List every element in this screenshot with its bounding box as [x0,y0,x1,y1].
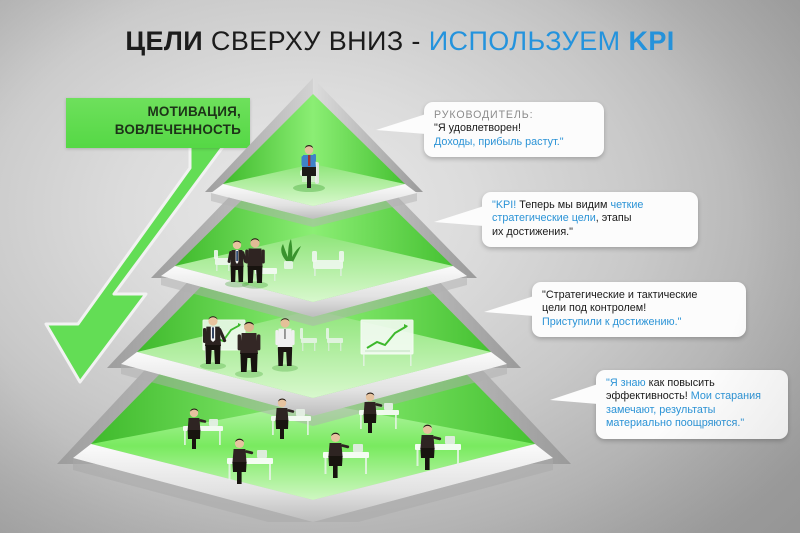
callout-tail-icon [484,294,534,324]
callout-executive: РУКОВОДИТЕЛЬ: "Я удовлетворен! Доходы, п… [424,102,604,157]
page-title: ЦЕЛИ СВЕРХУ ВНИЗ - ИСПОЛЬЗУЕМ KPI [0,26,800,57]
callout-body: "Стратегические и тактические цели под к… [542,289,736,329]
callout-employees: "Я знаю как повысить эффективность! Мои … [596,370,788,439]
title-part-kpi: KPI [628,26,674,56]
callout-lead: РУКОВОДИТЕЛЬ: [434,109,594,122]
title-part-using: ИСПОЛЬЗУЕМ [429,26,629,56]
infographic-canvas: ЦЕЛИ СВЕРХУ ВНИЗ - ИСПОЛЬЗУЕМ KPI МОТИВА… [0,0,800,533]
title-part-topdown: СВЕРХУ ВНИЗ - [203,26,429,56]
callout-senior-management: "KPI! Теперь мы видим четкие стратегичес… [482,192,698,247]
callout-tail-icon [376,112,426,142]
callout-body: "KPI! Теперь мы видим четкие стратегичес… [492,199,688,239]
callout-middle-management: "Стратегические и тактические цели под к… [532,282,746,337]
callout-tail-icon [434,204,484,234]
callout-body: "Я удовлетворен! Доходы, прибыль растут.… [434,122,594,149]
title-part-goals: ЦЕЛИ [125,26,203,56]
pyramid-tier-top [205,78,423,227]
callout-tail-icon [550,382,598,412]
callout-body: "Я знаю как повысить эффективность! Мои … [606,377,778,431]
